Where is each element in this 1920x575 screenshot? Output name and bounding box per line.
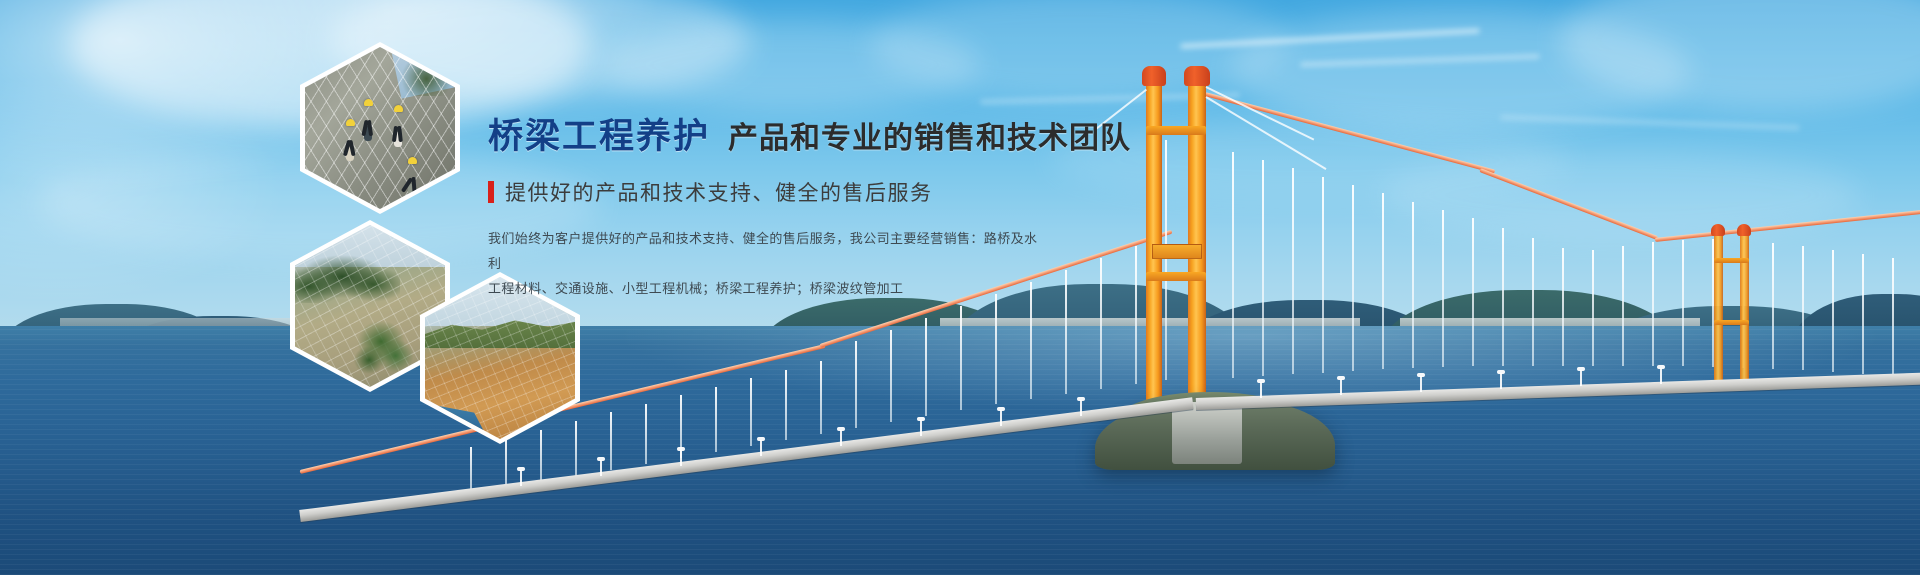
tower-crossbeam <box>1714 320 1749 325</box>
banner-subheading: 提供好的产品和技术支持、健全的售后服务 <box>488 177 1308 207</box>
tower-cap <box>1737 224 1751 236</box>
accent-bar <box>488 181 494 203</box>
hero-banner: 桥梁工程养护 产品和专业的销售和技术团队 提供好的产品和技术支持、健全的售后服务… <box>0 0 1920 575</box>
headline-primary: 桥梁工程养护 <box>488 118 710 157</box>
body-line-1: 我们始终为客户提供好的产品和技术支持、健全的售后服务，我公司主要经营销售：路桥及… <box>488 227 1048 278</box>
headline-secondary: 产品和专业的销售和技术团队 <box>728 122 1131 155</box>
tower-cap <box>1142 66 1166 86</box>
bridge-tower-far-left-leg <box>1714 232 1723 382</box>
body-line-2: 工程材料、交通设施、小型工程机械；桥梁工程养护；桥梁波纹管加工 <box>488 277 1048 302</box>
bridge-tower-far-right-leg <box>1740 232 1749 382</box>
banner-body: 我们始终为客户提供好的产品和技术支持、健全的售后服务，我公司主要经营销售：路桥及… <box>488 227 1048 303</box>
tower-cap <box>1711 224 1725 236</box>
tower-crossbeam <box>1714 258 1749 263</box>
banner-copy: 桥梁工程养护 产品和专业的销售和技术团队 提供好的产品和技术支持、健全的售后服务… <box>488 118 1308 303</box>
main-cable <box>1479 168 1658 240</box>
tower-cap <box>1184 66 1210 86</box>
banner-headline: 桥梁工程养护 产品和专业的销售和技术团队 <box>488 118 1308 157</box>
main-cable <box>1655 209 1920 242</box>
bridge-deck-right <box>1196 373 1920 410</box>
bridge-deck-left <box>299 397 1193 522</box>
subheading-text: 提供好的产品和技术支持、健全的售后服务 <box>505 177 933 207</box>
